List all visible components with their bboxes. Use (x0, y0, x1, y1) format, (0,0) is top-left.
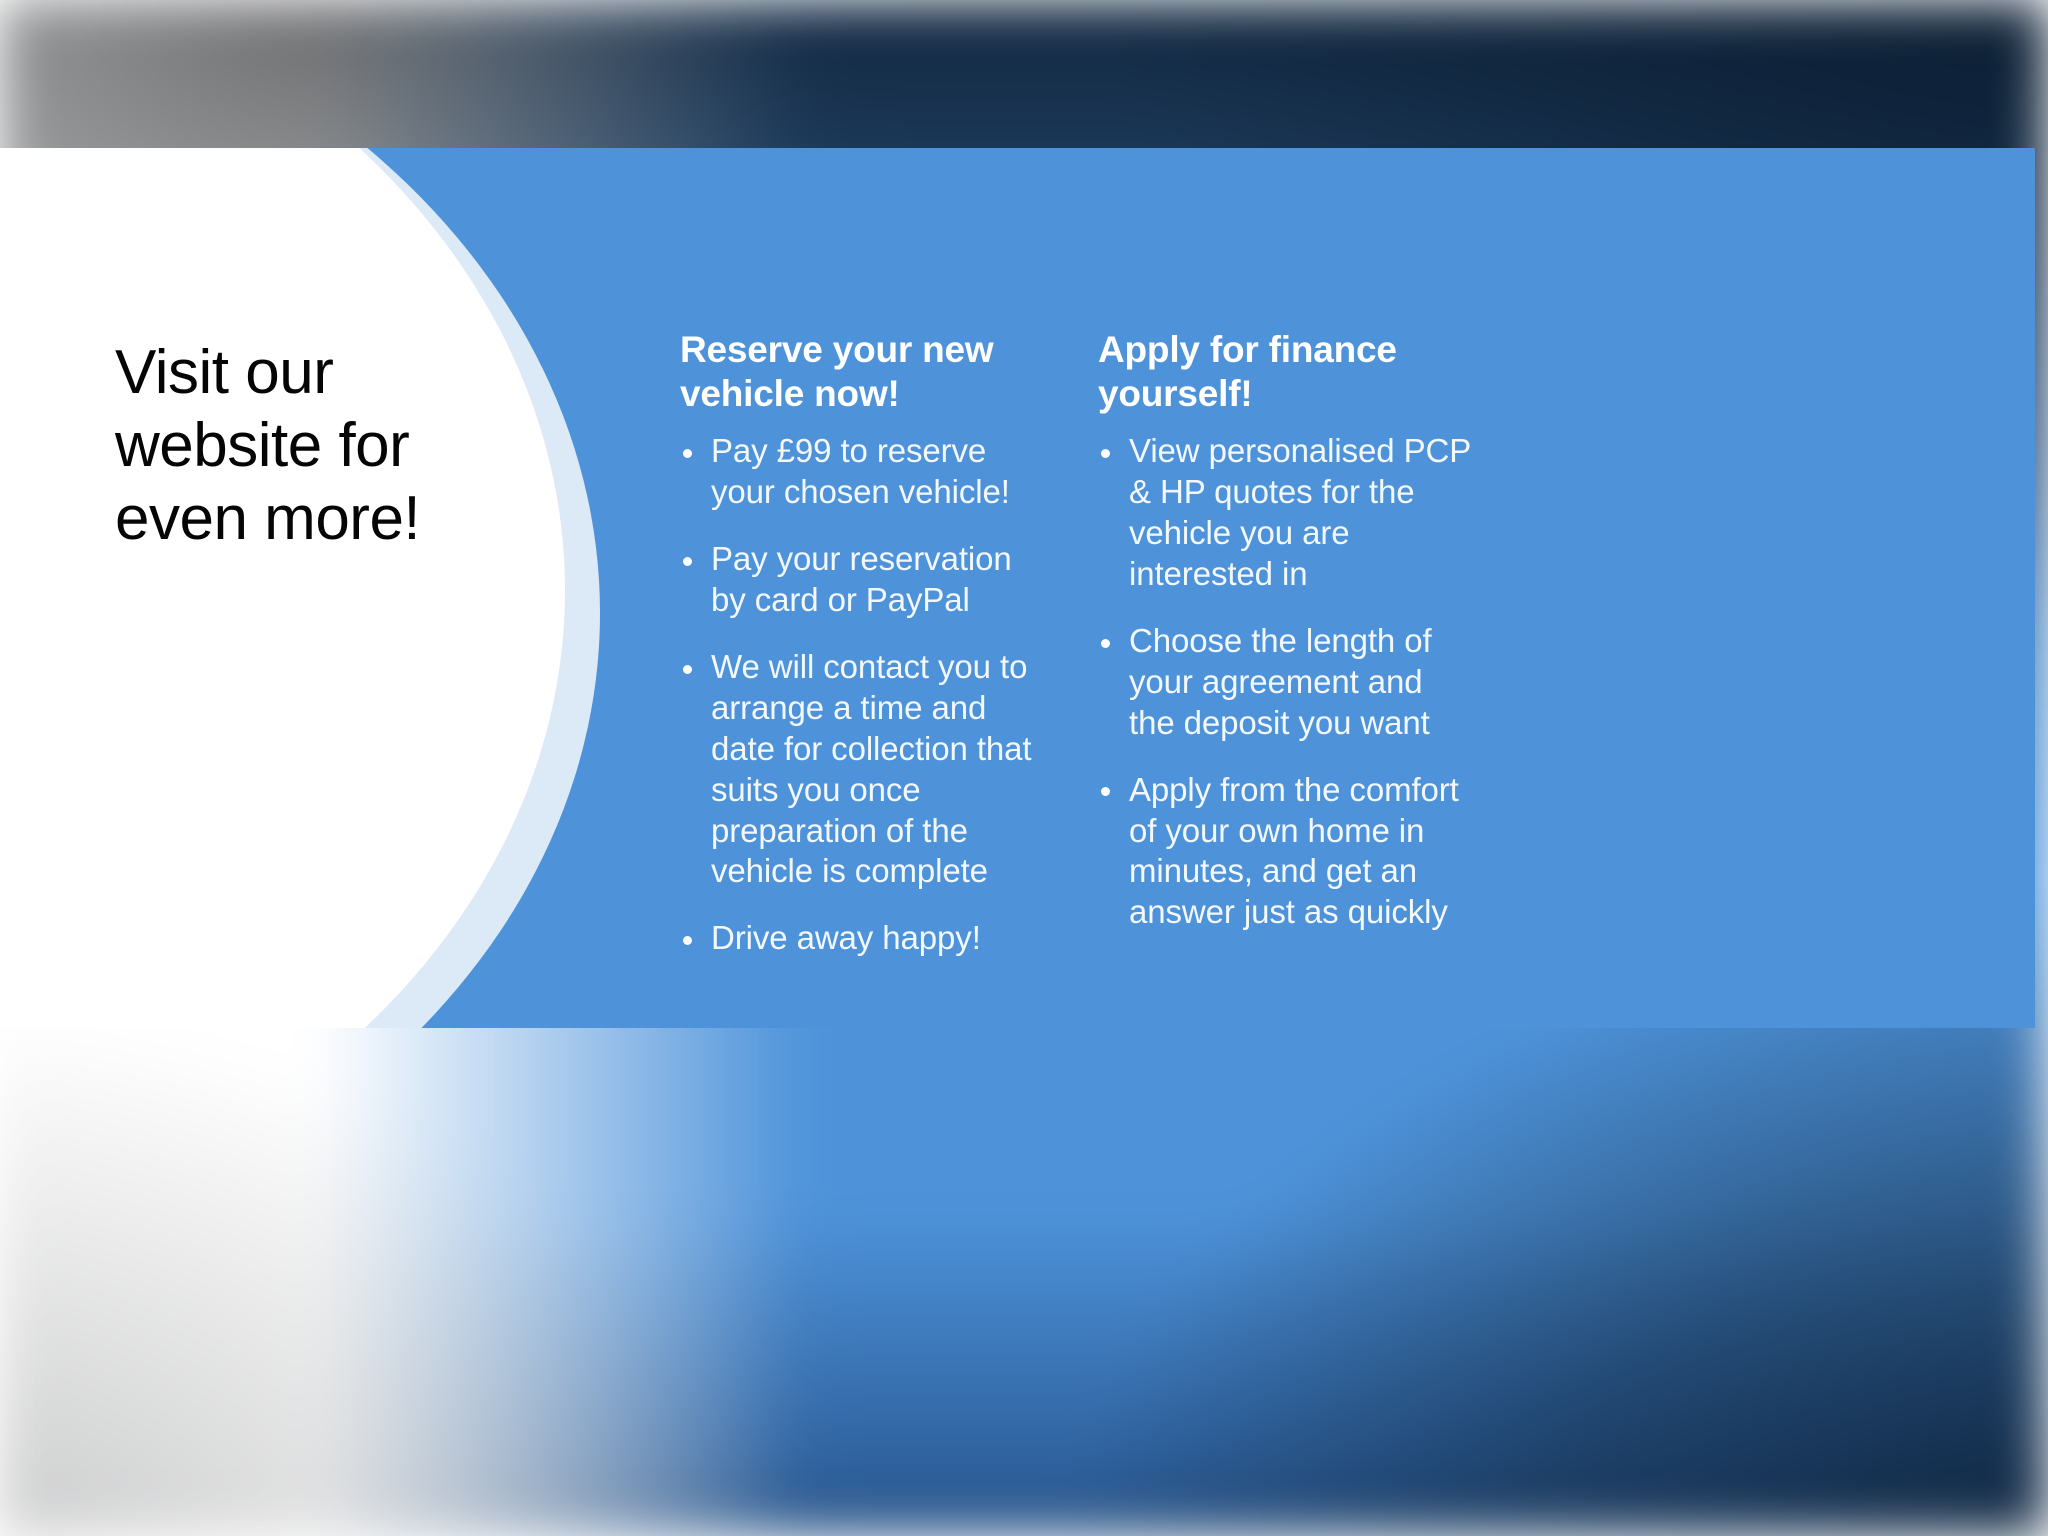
list-item: Apply from the comfort of your own home … (1098, 770, 1473, 934)
bullet-dot-icon (1101, 449, 1110, 458)
list-item-label: Choose the length of your agreement and … (1129, 622, 1432, 741)
list-item: Choose the length of your agreement and … (1098, 621, 1473, 744)
column-reserve-title: Reserve your new vehicle now! (680, 328, 1050, 415)
list-item: Pay your reservation by card or PayPal (680, 539, 1050, 621)
column-reserve: Reserve your new vehicle now! Pay £99 to… (680, 328, 1050, 985)
list-item: We will contact you to arrange a time an… (680, 647, 1050, 892)
bullet-dot-icon (683, 665, 692, 674)
bullet-dot-icon (683, 557, 692, 566)
list-item-label: Drive away happy! (711, 919, 981, 956)
column-finance-bullet-list: View personalised PCP & HP quotes for th… (1098, 431, 1473, 933)
bullet-dot-icon (1101, 639, 1110, 648)
column-reserve-bullet-list: Pay £99 to reserve your chosen vehicle! … (680, 431, 1050, 959)
bullet-dot-icon (683, 449, 692, 458)
list-item-label: Pay your reservation by card or PayPal (711, 540, 1012, 618)
presentation-slide: Visit our website for even more! Reserve… (0, 148, 2035, 1028)
column-finance-title: Apply for finance yourself! (1098, 328, 1473, 415)
page-title: Visit our website for even more! (115, 336, 545, 555)
list-item-label: View personalised PCP & HP quotes for th… (1129, 432, 1471, 592)
list-item: View personalised PCP & HP quotes for th… (1098, 431, 1473, 595)
list-item-label: Apply from the comfort of your own home … (1129, 771, 1459, 931)
list-item: Drive away happy! (680, 918, 1050, 959)
list-item-label: We will contact you to arrange a time an… (711, 648, 1031, 890)
bullet-dot-icon (1101, 787, 1110, 796)
bullet-dot-icon (683, 936, 692, 945)
list-item: Pay £99 to reserve your chosen vehicle! (680, 431, 1050, 513)
list-item-label: Pay £99 to reserve your chosen vehicle! (711, 432, 1010, 510)
column-finance: Apply for finance yourself! View persona… (1098, 328, 1473, 959)
